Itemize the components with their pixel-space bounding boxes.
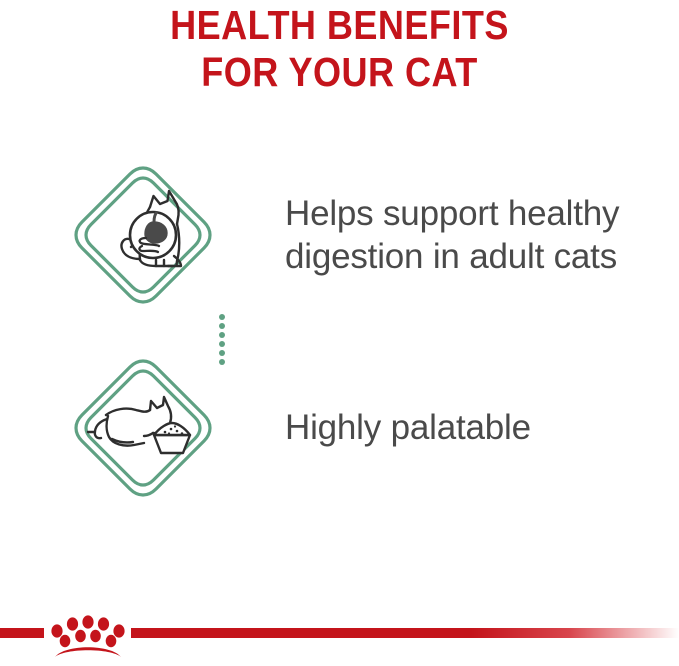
royal-canin-crown-logo bbox=[47, 611, 129, 659]
benefit-icon-slot bbox=[0, 355, 285, 500]
cat-eating-bowl-icon bbox=[68, 353, 218, 503]
connector-dot bbox=[219, 314, 225, 320]
benefit-label: Highly palatable bbox=[285, 406, 545, 449]
footer-brand-bar bbox=[0, 600, 679, 666]
brand-bar-left-segment bbox=[0, 628, 44, 638]
benefit-item-digestion: Helps support healthy digestion in adult… bbox=[0, 160, 679, 310]
benefit-item-palatability: Highly palatable bbox=[0, 355, 679, 500]
benefit-icon-slot bbox=[0, 160, 285, 310]
connector-dot bbox=[219, 332, 225, 338]
brand-bar-right-segment bbox=[131, 628, 679, 638]
cat-digestion-icon bbox=[68, 160, 218, 310]
page-title-line-1: HEALTH BENEFITS bbox=[41, 2, 639, 49]
benefit-label: Helps support healthy digestion in adult… bbox=[285, 192, 679, 278]
connector-dot bbox=[219, 341, 225, 347]
connector-dot bbox=[219, 323, 225, 329]
page-title-line-2: FOR YOUR CAT bbox=[41, 49, 639, 96]
page-title: HEALTH BENEFITS FOR YOUR CAT bbox=[41, 0, 639, 96]
